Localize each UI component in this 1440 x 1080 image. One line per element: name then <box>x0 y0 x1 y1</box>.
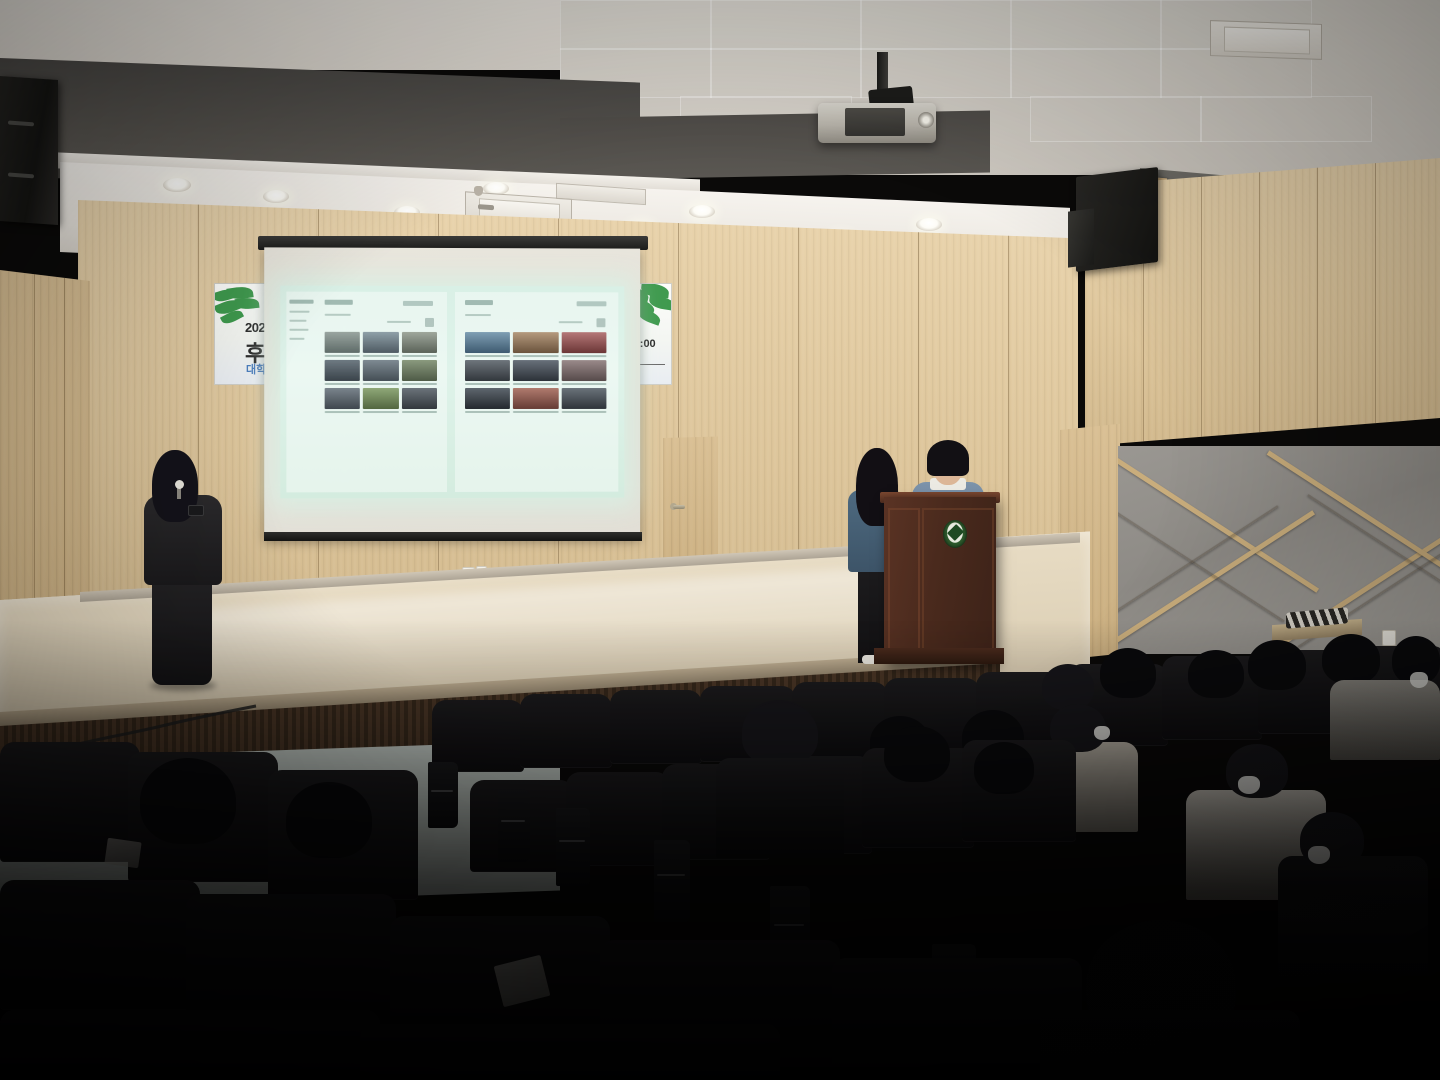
audience-head <box>1248 640 1306 690</box>
gallery-item[interactable] <box>513 360 558 385</box>
ceiling-downlight <box>916 218 942 231</box>
gallery-item[interactable] <box>325 360 361 385</box>
seat[interactable] <box>0 1010 380 1080</box>
ceiling-ac-unit <box>1210 20 1322 60</box>
ceiling-downlight <box>163 178 191 192</box>
slide-photo-grid-right <box>465 332 606 413</box>
face-mask <box>1094 726 1110 740</box>
wall-outlet-right[interactable] <box>1382 630 1396 646</box>
slide-left-panel <box>286 292 447 493</box>
projection-screen <box>264 247 640 540</box>
audience-head <box>1042 664 1094 710</box>
gallery-item[interactable] <box>402 388 437 413</box>
microphone-icon <box>175 480 184 489</box>
face-mask <box>1238 776 1260 794</box>
projected-slide <box>280 286 624 499</box>
gallery-item[interactable] <box>513 388 558 413</box>
gallery-item[interactable] <box>363 332 398 357</box>
audience-head <box>974 742 1034 794</box>
gallery-item[interactable] <box>465 360 510 385</box>
paper-handout[interactable] <box>104 838 141 868</box>
sprinkler-head <box>474 186 483 196</box>
audience-head <box>286 782 372 858</box>
audience-head <box>1322 634 1380 684</box>
audience-head <box>1188 650 1244 698</box>
slide-search-field[interactable] <box>387 321 411 323</box>
seat[interactable] <box>0 880 200 1010</box>
seat-tablet-arm[interactable] <box>428 762 458 828</box>
projector-body-panel <box>845 108 905 136</box>
audience-head <box>884 726 950 782</box>
gallery-item[interactable] <box>561 388 606 413</box>
gallery-item[interactable] <box>465 388 510 413</box>
left-speaker-cabinet <box>0 76 58 225</box>
podium-presenter-male-hair <box>927 440 969 476</box>
seat-tablet-arm[interactable] <box>556 808 590 886</box>
seat-tablet-arm[interactable] <box>498 790 530 862</box>
seat[interactable] <box>520 694 612 768</box>
slide-photo-grid <box>325 332 437 413</box>
auditorium-scene: 2024 후 대학 0~18:00 <box>0 0 1440 1080</box>
gallery-item[interactable] <box>325 332 361 357</box>
slide-breadcrumb-right <box>465 314 491 316</box>
ceiling-downlight <box>689 205 715 218</box>
slide-right-panel <box>455 292 618 492</box>
gallery-item[interactable] <box>325 388 361 413</box>
gallery-item[interactable] <box>363 360 398 385</box>
audience-head <box>1100 648 1156 698</box>
gallery-item[interactable] <box>363 388 398 413</box>
gallery-item[interactable] <box>402 360 437 385</box>
slide-breadcrumb <box>325 314 351 316</box>
slide-account-chip[interactable] <box>403 301 433 306</box>
audience-body <box>1040 1010 1300 1080</box>
presenter-mic-legs <box>152 575 212 685</box>
slide-search-field-right[interactable] <box>559 321 583 323</box>
banner-subline: 대학 <box>246 361 266 377</box>
gallery-item[interactable] <box>465 332 510 357</box>
slide-account-chip-right[interactable] <box>577 301 607 306</box>
face-mask <box>1410 672 1428 688</box>
lectern-base <box>874 648 1004 664</box>
audience-body <box>1278 856 1428 976</box>
audience-head <box>742 702 818 766</box>
seat[interactable] <box>610 690 702 764</box>
gallery-item[interactable] <box>402 332 437 357</box>
audience-body <box>1330 680 1440 760</box>
slide-page-title-right <box>465 300 493 305</box>
slide-view-toggle[interactable] <box>425 318 434 327</box>
audience-head <box>140 758 236 844</box>
seat-tablet-arm[interactable] <box>654 840 690 922</box>
seat[interactable] <box>360 1024 780 1080</box>
screen-bottom-bar <box>264 532 642 541</box>
slide-sidebar[interactable] <box>289 298 317 358</box>
door-handle-icon[interactable] <box>673 505 685 509</box>
audience-body <box>716 758 844 858</box>
projector-lens-icon <box>918 112 934 128</box>
face-mask <box>1308 846 1330 864</box>
lectern-panel-left <box>888 508 920 654</box>
acoustic-diamond-panel <box>1118 446 1440 654</box>
gallery-item[interactable] <box>513 332 558 357</box>
gallery-item[interactable] <box>561 360 606 385</box>
ceiling-downlight <box>263 190 289 203</box>
slide-view-toggle-right[interactable] <box>596 318 605 327</box>
gallery-item[interactable] <box>561 332 606 357</box>
right-speaker-subcabinet <box>1068 208 1094 267</box>
slide-page-title <box>325 300 353 305</box>
handheld-device <box>188 505 204 516</box>
